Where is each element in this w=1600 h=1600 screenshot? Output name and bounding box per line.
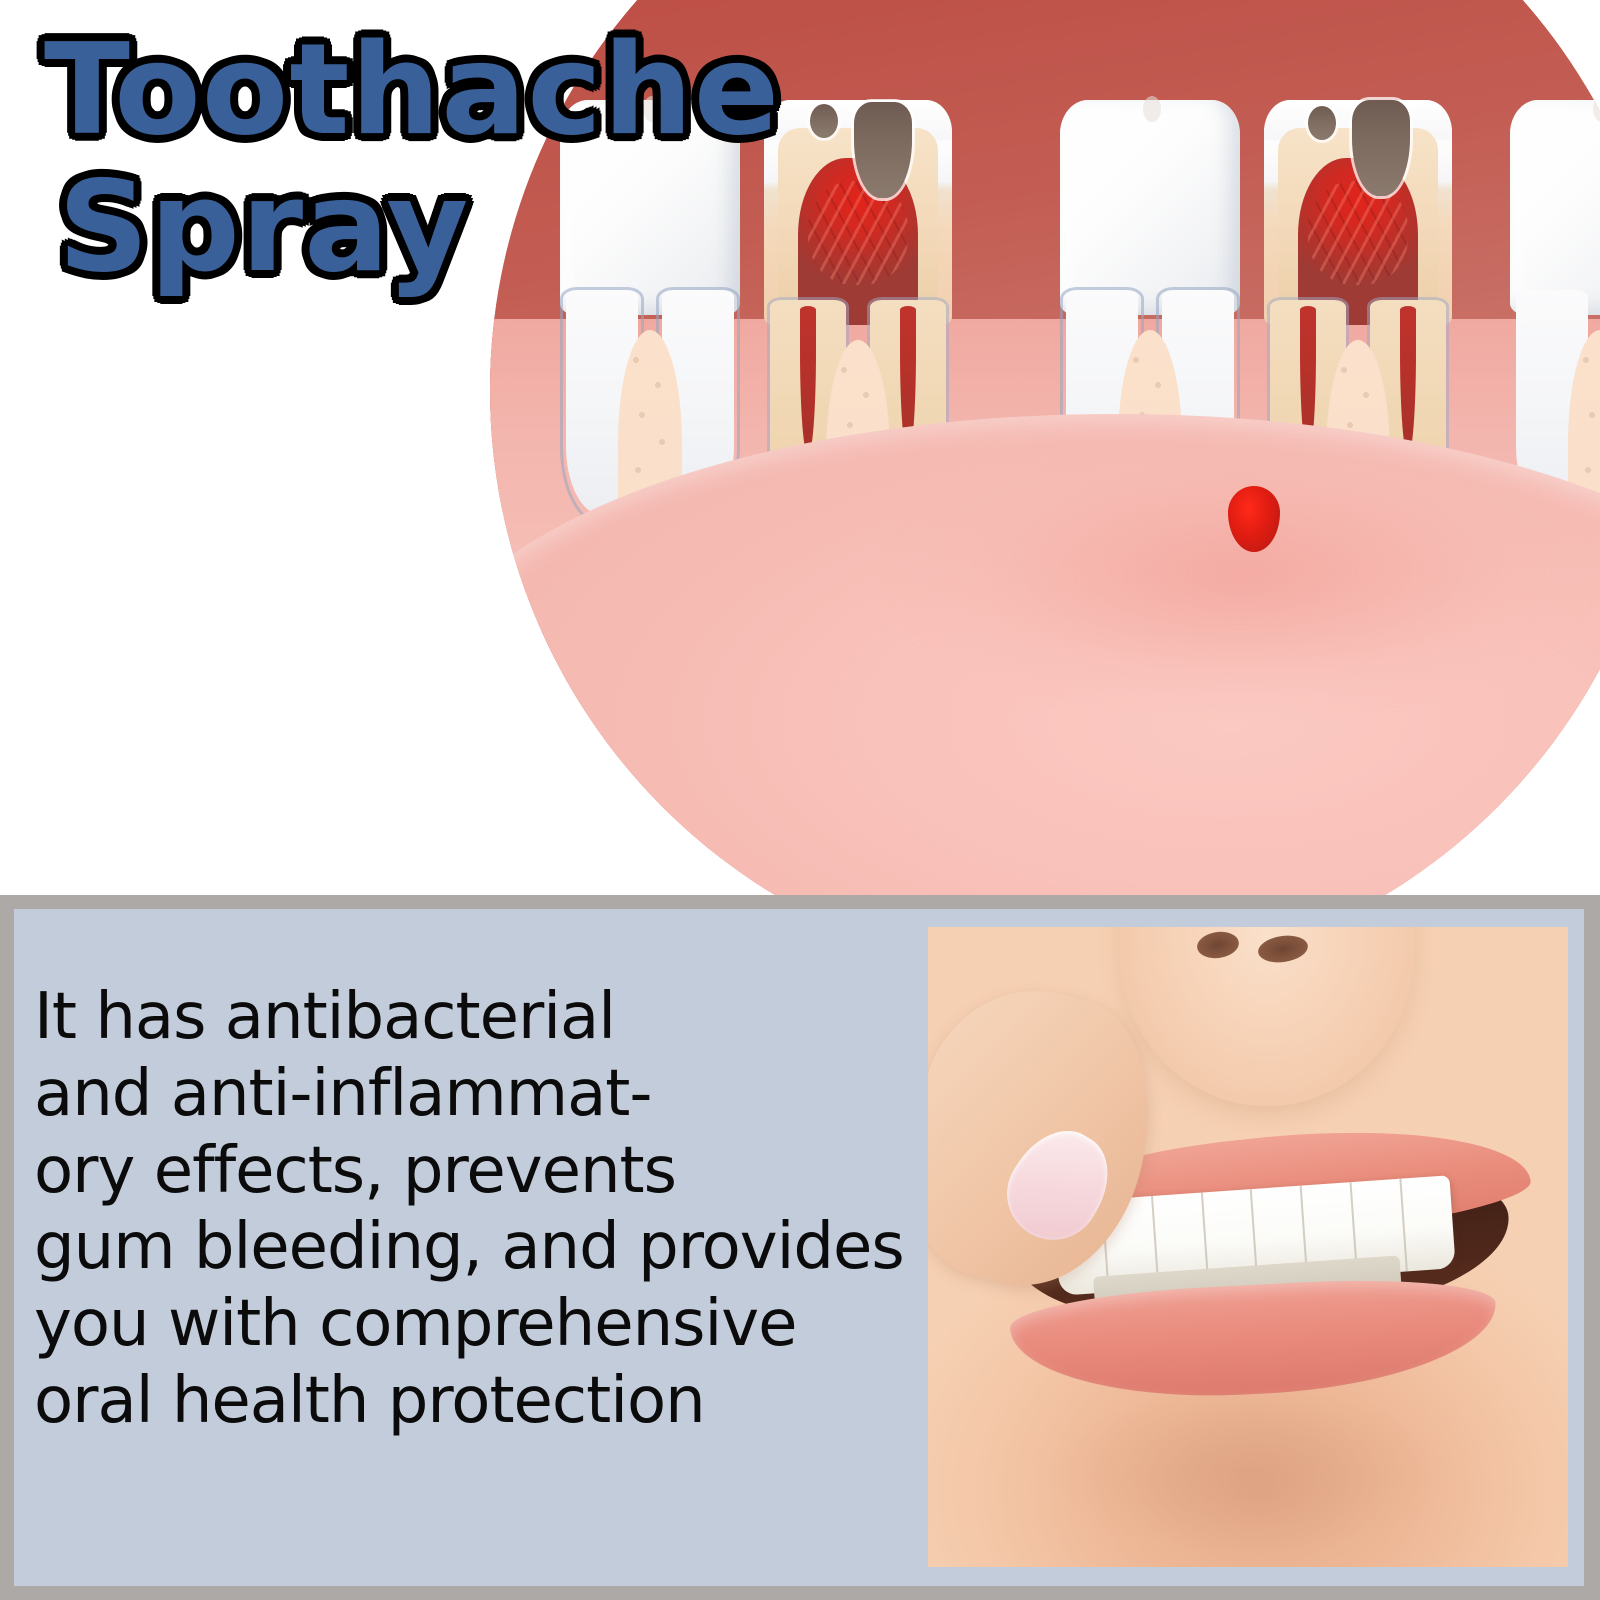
nostril-left xyxy=(1195,929,1240,961)
lower-lip-tongue xyxy=(490,414,1600,895)
chin-shadow xyxy=(1043,1388,1453,1554)
page-title: Toothache Spray xyxy=(44,28,780,289)
panel-inner: It has antibacterial and anti-inflammat-… xyxy=(14,909,1584,1586)
root-canal xyxy=(800,306,816,456)
bottom-info-panel: It has antibacterial and anti-inflammat-… xyxy=(0,895,1600,1600)
smiling-woman-teeth-photo xyxy=(928,927,1568,1567)
product-description-text: It has antibacterial and anti-inflammat-… xyxy=(34,979,924,1440)
poster-root: Toothache Spray It has antibacterial and… xyxy=(0,0,1600,1600)
small-cavity-icon xyxy=(810,104,838,138)
title-line-1: Toothache xyxy=(44,28,780,151)
title-line-2: Spray xyxy=(58,165,780,288)
nostril-right xyxy=(1257,933,1310,966)
tooth xyxy=(1401,1176,1455,1272)
root-canal xyxy=(1400,306,1416,456)
small-cavity-icon xyxy=(1308,106,1336,140)
tooth-crown-enamel xyxy=(1510,100,1600,315)
tooth-crown-enamel xyxy=(1060,100,1240,315)
healthy-molar-3 xyxy=(1500,100,1600,520)
fingernail xyxy=(990,1113,1127,1257)
hero-section: Toothache Spray xyxy=(0,0,1600,895)
